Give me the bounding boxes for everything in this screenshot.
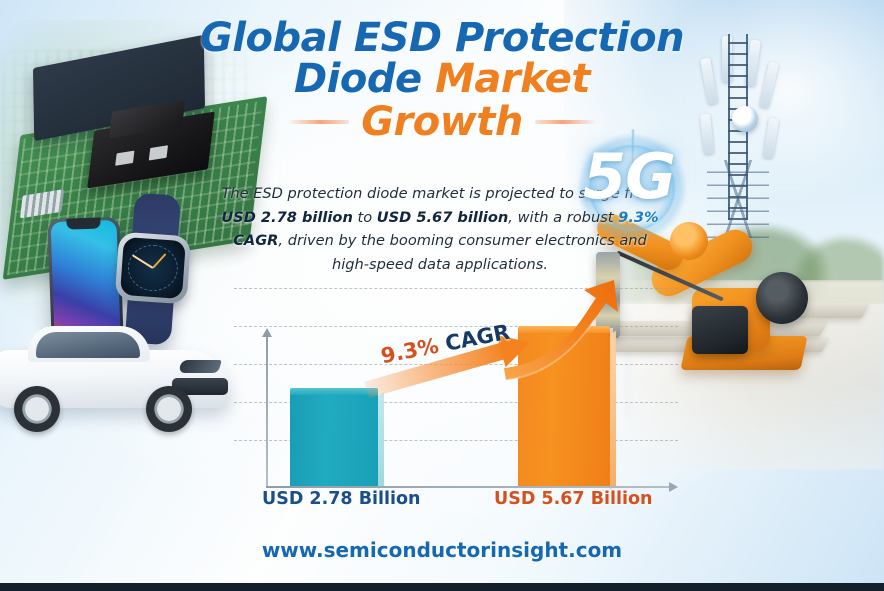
title-line-3-row: Growth: [178, 102, 706, 143]
car-windshield: [36, 332, 140, 358]
body-value-start: USD 2.78 billion: [221, 209, 353, 226]
body-value-end: USD 5.67 billion: [377, 209, 509, 226]
car-wheel-rear: [14, 386, 60, 432]
robot-elbow-joint: [670, 222, 708, 260]
growth-arrow-icon: [502, 272, 652, 392]
title-line-2-orange: Market: [435, 56, 590, 102]
page-title: Global ESD Protection Diode Market Growt…: [178, 18, 706, 142]
robot-gripper: [692, 306, 748, 354]
watch-minute-hand: [132, 254, 153, 268]
phone-notch: [66, 217, 100, 229]
car-wheel-front: [146, 386, 192, 432]
badge-5g: 5G: [583, 140, 675, 213]
title-line-3: Growth: [361, 102, 523, 143]
title-line-1: Global ESD Protection: [178, 18, 706, 59]
robot-wrist-joint: [756, 272, 808, 324]
bar-2024: [290, 393, 378, 486]
tower-antenna: [763, 117, 779, 158]
body-cagr-word: CAGR: [233, 232, 278, 249]
tower-antenna: [759, 61, 779, 108]
watch-case: [115, 232, 192, 305]
infographic-canvas: Global ESD Protection Diode Market Growt…: [0, 0, 884, 591]
body-seg-3: to: [353, 209, 377, 226]
bar-label-2024: USD 2.78 Billion: [262, 489, 421, 509]
watch-face: [120, 237, 186, 299]
tower-dish: [732, 106, 758, 132]
car-headlight: [178, 360, 222, 373]
chart-y-axis: [266, 336, 268, 488]
title-line-2: Diode Market: [178, 59, 706, 100]
title-dash-right-icon: [535, 120, 597, 124]
title-line-2-blue: Diode: [294, 56, 435, 102]
chart-x-axis: [266, 486, 670, 488]
body-seg-8: , driven by the booming consumer electro…: [278, 232, 646, 273]
car-icon: [0, 320, 238, 440]
market-growth-bar-chart: [234, 286, 678, 488]
title-dash-left-icon: [287, 120, 349, 124]
bar-2024-cap: [290, 388, 378, 395]
smartwatch-icon: [111, 225, 194, 308]
bottom-border-strip: [0, 583, 884, 591]
footer-website-url[interactable]: www.semiconductorinsight.com: [0, 538, 884, 562]
watch-hour-hand: [152, 253, 166, 268]
bar-label-2034: USD 5.67 Billion: [494, 489, 653, 509]
